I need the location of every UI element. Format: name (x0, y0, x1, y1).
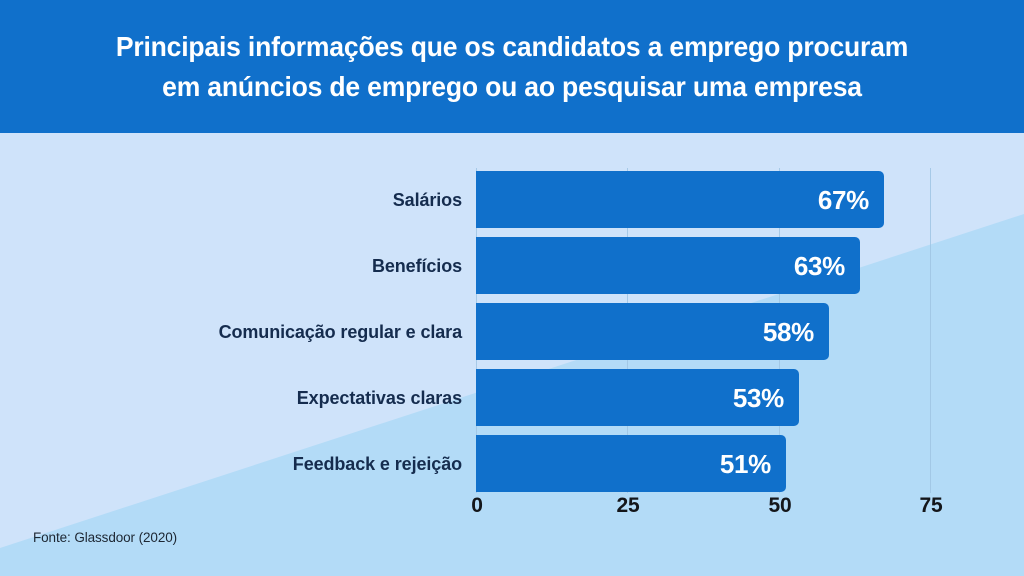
source-note: Fonte: Glassdoor (2020) (33, 531, 177, 545)
x-axis: 0 25 50 75 (0, 495, 1024, 535)
slide-canvas: Principais informações que os candidatos… (0, 0, 1024, 576)
bar-comunicacao-regular-e-clara[interactable]: 58% (476, 303, 829, 360)
bar-row[interactable]: Comunicação regular e clara 58% (0, 303, 1024, 360)
page-title: Principais informações que os candidatos… (49, 27, 975, 105)
bar-value-label: 51% (720, 451, 771, 477)
bar-row[interactable]: Feedback e rejeição 51% (0, 435, 1024, 492)
bar-value-label: 67% (818, 187, 869, 213)
x-tick-label: 25 (617, 495, 640, 516)
bar-chart: Salários 67% Benefícios 63% Comunicação … (0, 133, 1024, 576)
bar-value-label: 58% (763, 319, 814, 345)
bar-row[interactable]: Benefícios 63% (0, 237, 1024, 294)
bar-row[interactable]: Expectativas claras 53% (0, 369, 1024, 426)
bar-row[interactable]: Salários 67% (0, 171, 1024, 228)
bar-value-label: 53% (733, 385, 784, 411)
x-tick-label: 0 (471, 495, 482, 516)
header-banner: Principais informações que os candidatos… (0, 0, 1024, 133)
category-label: Salários (42, 191, 462, 209)
x-tick-label: 75 (920, 495, 943, 516)
bar-value-label: 63% (794, 253, 845, 279)
category-label: Expectativas claras (42, 389, 462, 407)
bar-beneficios[interactable]: 63% (476, 237, 860, 294)
category-label: Benefícios (42, 257, 462, 275)
category-label: Feedback e rejeição (42, 455, 462, 473)
x-tick-label: 50 (769, 495, 792, 516)
bar-salarios[interactable]: 67% (476, 171, 884, 228)
bar-feedback-e-rejeicao[interactable]: 51% (476, 435, 786, 492)
bar-expectativas-claras[interactable]: 53% (476, 369, 799, 426)
category-label: Comunicação regular e clara (42, 323, 462, 341)
